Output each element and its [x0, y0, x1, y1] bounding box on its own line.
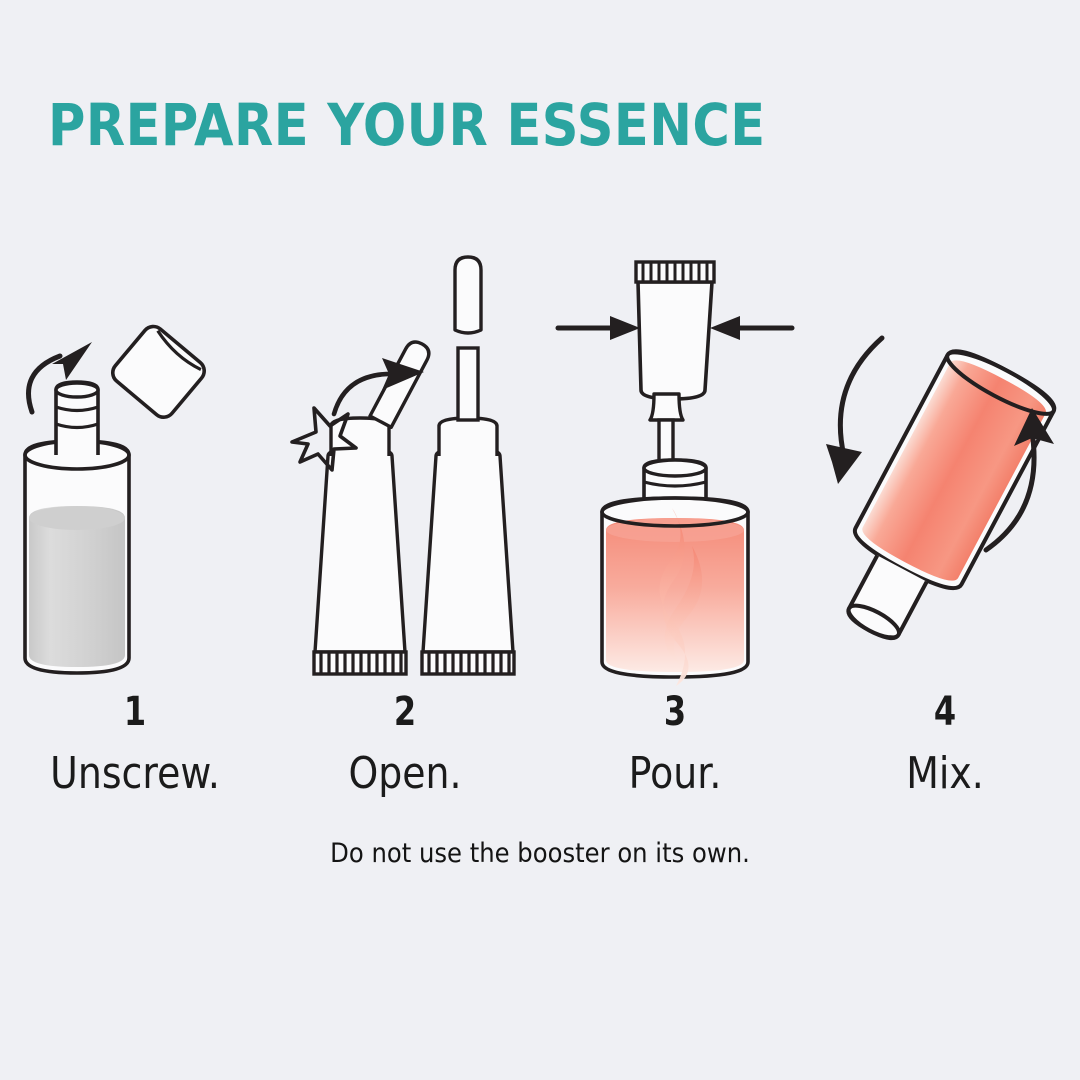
squeeze-tube-into-bottle-icon	[540, 230, 810, 700]
bottle-with-cap-removed-icon	[0, 230, 270, 700]
step-number-2: 2	[297, 690, 513, 734]
step-text-3: Pour.	[559, 750, 791, 798]
step-2-illustration	[270, 230, 540, 700]
step-number-1: 1	[27, 690, 243, 734]
step-text-2: Open.	[289, 750, 521, 798]
footer-note: Do not use the booster on its own.	[54, 838, 1026, 869]
step-label-2: 2 Open.	[270, 690, 540, 798]
step-label-1: 1 Unscrew.	[0, 690, 270, 798]
ampoule-snap-open-icon	[270, 230, 540, 700]
steps-illustration-row	[0, 230, 1080, 700]
step-label-3: 3 Pour.	[540, 690, 810, 798]
step-label-4: 4 Mix.	[810, 690, 1080, 798]
step-labels-row: 1 Unscrew. 2 Open. 3 Pour. 4 Mix.	[0, 690, 1080, 798]
step-text-4: Mix.	[829, 750, 1061, 798]
step-number-3: 3	[567, 690, 783, 734]
step-1-illustration	[0, 230, 270, 700]
shake-bottle-icon	[810, 230, 1080, 700]
step-text-1: Unscrew.	[19, 750, 251, 798]
infographic-page: PREPARE YOUR ESSENCE	[0, 0, 1080, 1080]
step-number-4: 4	[837, 690, 1053, 734]
step-4-illustration	[810, 230, 1080, 700]
step-3-illustration	[540, 230, 810, 700]
page-title: PREPARE YOUR ESSENCE	[48, 96, 766, 154]
